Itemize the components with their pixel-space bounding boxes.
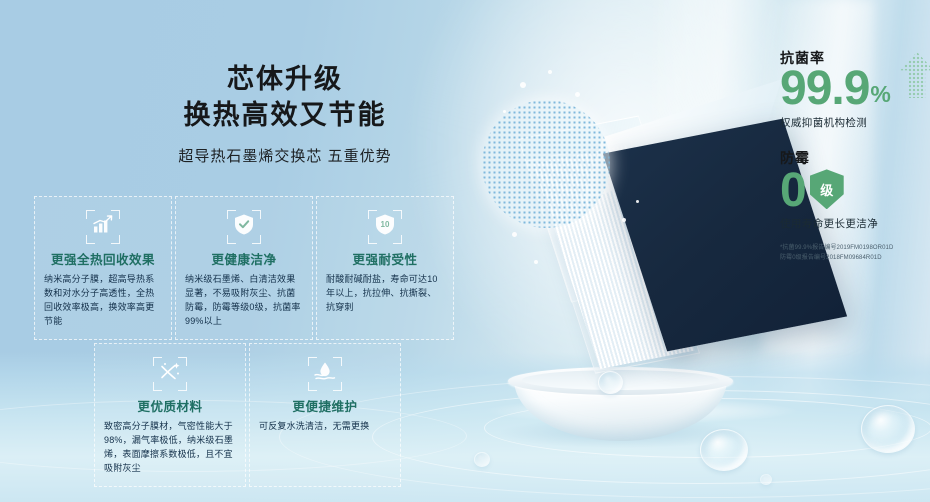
splash-droplet bbox=[503, 110, 506, 113]
feature-icon-wrap bbox=[259, 354, 391, 394]
headline-line-2: 换热高效又节能 bbox=[120, 98, 450, 134]
splash-droplet bbox=[622, 218, 626, 222]
feature-body: 纳米级石墨烯、白清洁效果显著，不易吸附灰尘、抗菌防霉，防霉等级0级，抗菌率99%… bbox=[185, 273, 303, 329]
svg-text:10: 10 bbox=[381, 220, 390, 229]
feature-card-row-2: 更优质材料 致密高分子膜材，气密性能大于98%，漏气率极低，纳米级石墨烯，表面摩… bbox=[34, 343, 454, 487]
stat-block-antimold: 防霉 0 级 使用寿命更长更洁净 bbox=[780, 148, 930, 232]
feature-body: 纳米高分子膜，超高导热系数和对水分子高透性，全热回收效率极高，换效率高更节能 bbox=[44, 273, 162, 329]
glass-bubble bbox=[474, 452, 490, 467]
feature-title: 更优质材料 bbox=[104, 396, 236, 415]
glass-bubble bbox=[760, 474, 772, 485]
feature-icon-wrap: 10 bbox=[326, 207, 444, 247]
stat-value-row: 99.9 % bbox=[780, 66, 930, 112]
stats-panel: 抗菌率 99.9 % 权威抑菌机构检测 防霉 0 级 使用寿命更长更洁净 *抗菌… bbox=[780, 48, 930, 264]
stat-value-row: 0 级 bbox=[780, 168, 930, 214]
honeycomb-mesh-icon bbox=[482, 100, 610, 228]
feature-icon-wrap bbox=[185, 207, 303, 247]
splash-droplet bbox=[534, 260, 538, 264]
feature-card-row-1: 更强全热回收效果 纳米高分子膜，超高导热系数和对水分子高透性，全热回收效率极高，… bbox=[34, 196, 454, 340]
shield-badge-icon: 级 bbox=[810, 169, 844, 209]
footnote-line-1: *抗菌99.9%报告编号2019FM0198OR01D bbox=[780, 243, 930, 253]
feature-body: 致密高分子膜材，气密性能大于98%，漏气率极低，纳米级石墨烯，表面摩擦系数极低，… bbox=[104, 420, 236, 476]
product-feature-banner: 芯体升级 换热高效又节能 超导热石墨烯交换芯 五重优势 bbox=[0, 0, 930, 502]
icon-frame: 10 bbox=[368, 210, 402, 244]
stat-unit: % bbox=[870, 81, 890, 112]
splash-droplet bbox=[548, 70, 552, 74]
stat-block-antibacterial: 抗菌率 99.9 % 权威抑菌机构检测 bbox=[780, 48, 930, 130]
icon-frame bbox=[153, 357, 187, 391]
stat-value: 99.9 bbox=[780, 66, 869, 112]
glass-bubble bbox=[598, 371, 623, 394]
icon-frame bbox=[86, 210, 120, 244]
splash-droplet bbox=[575, 92, 580, 97]
feature-body: 耐酸耐碱耐盐，寿命可达10年以上，抗拉伸、抗撕裂、抗穿刺 bbox=[326, 273, 444, 315]
splash-droplet bbox=[512, 232, 517, 237]
glass-bubble bbox=[861, 405, 915, 453]
stat-caption: 权威抑菌机构检测 bbox=[780, 115, 930, 130]
glass-bubble bbox=[700, 429, 748, 471]
shield-10-icon: 10 bbox=[375, 214, 395, 241]
feature-title: 更健康洁净 bbox=[185, 249, 303, 268]
shield-check-icon bbox=[234, 214, 254, 241]
feature-card-5[interactable]: 更便捷维护 可反复水洗清洁，无需更换 bbox=[249, 343, 401, 487]
icon-frame bbox=[227, 210, 261, 244]
feature-title: 更强全热回收效果 bbox=[44, 249, 162, 268]
stat-value: 0 bbox=[780, 168, 806, 214]
feature-title: 更强耐受性 bbox=[326, 249, 444, 268]
headline-block: 芯体升级 换热高效又节能 超导热石墨烯交换芯 五重优势 bbox=[120, 62, 450, 166]
feature-card-2[interactable]: 更健康洁净 纳米级石墨烯、白清洁效果显著，不易吸附灰尘、抗菌防霉，防霉等级0级，… bbox=[175, 196, 313, 340]
feature-icon-wrap bbox=[104, 354, 236, 394]
headline-subtitle: 超导热石墨烯交换芯 五重优势 bbox=[120, 145, 450, 166]
feature-card-grid: 更强全热回收效果 纳米高分子膜，超高导热系数和对水分子高透性，全热回收效率极高，… bbox=[34, 196, 454, 487]
feature-card-4[interactable]: 更优质材料 致密高分子膜材，气密性能大于98%，漏气率极低，纳米级石墨烯，表面摩… bbox=[94, 343, 246, 487]
water-wash-icon bbox=[313, 360, 337, 387]
bar-chart-up-icon bbox=[92, 215, 114, 240]
footnote-line-2: 防霉0级报告编号2018FM09684R01D bbox=[780, 253, 930, 263]
feature-title: 更便捷维护 bbox=[259, 396, 391, 415]
headline-line-1: 芯体升级 bbox=[120, 62, 450, 98]
feature-body: 可反复水洗清洁，无需更换 bbox=[259, 420, 391, 434]
feature-card-1[interactable]: 更强全热回收效果 纳米高分子膜，超高导热系数和对水分子高透性，全热回收效率极高，… bbox=[34, 196, 172, 340]
footnote-block: *抗菌99.9%报告编号2019FM0198OR01D 防霉0级报告编号2018… bbox=[780, 243, 930, 263]
sparkle-material-icon bbox=[159, 360, 181, 387]
feature-card-3[interactable]: 10 更强耐受性 耐酸耐碱耐盐，寿命可达10年以上，抗拉伸、抗撕裂、抗穿刺 bbox=[316, 196, 454, 340]
stat-caption: 使用寿命更长更洁净 bbox=[780, 216, 930, 231]
splash-droplet bbox=[636, 200, 639, 203]
feature-icon-wrap bbox=[44, 207, 162, 247]
splash-droplet bbox=[520, 82, 526, 88]
stat-badge-text: 级 bbox=[820, 180, 833, 199]
icon-frame bbox=[308, 357, 342, 391]
